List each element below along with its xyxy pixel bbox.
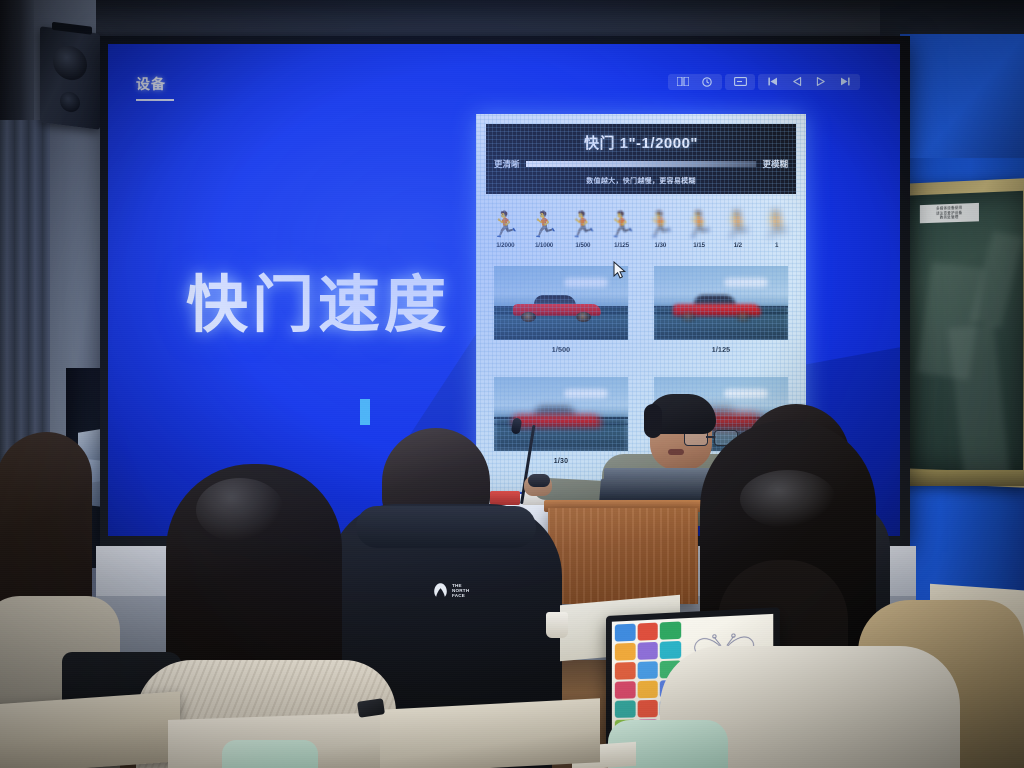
sample-photo-cell: 1/125 bbox=[646, 266, 796, 369]
desktop-app-icon[interactable] bbox=[637, 661, 658, 679]
runner-label: 1/30 bbox=[655, 242, 667, 249]
sample-photo-cell: 1/500 bbox=[486, 266, 636, 369]
card-header-note: 数值越大，快门越慢，更容易模糊 bbox=[486, 176, 796, 186]
chalkboard-sign: 多媒体设备使用 请注意爱护设备 教务处管理 bbox=[920, 203, 979, 223]
running-person-icon: 🏃 bbox=[490, 202, 521, 238]
presenter-hair-side bbox=[644, 404, 662, 438]
jacket-collar bbox=[356, 506, 536, 548]
slide-section-label: 设备 bbox=[136, 74, 174, 101]
desk-front-left bbox=[0, 691, 180, 768]
chalkboard: 多媒体设备使用 请注意爱护设备 教务处管理 bbox=[898, 178, 1024, 488]
timer-button[interactable] bbox=[696, 76, 718, 88]
presentation-control-bar[interactable] bbox=[668, 73, 860, 90]
runner-label: 1/500 bbox=[575, 242, 590, 249]
runner-cell: 🏃 1/2000 bbox=[486, 202, 525, 262]
card-header-title: 快门 1"-1/2000" bbox=[486, 132, 796, 153]
presenter-mouth bbox=[668, 449, 684, 455]
runner-cell: 🏃 1/15 bbox=[680, 202, 719, 262]
last-slide-button[interactable] bbox=[834, 76, 856, 88]
desktop-app-icon[interactable] bbox=[615, 662, 635, 680]
chalkboard-surface bbox=[910, 191, 1023, 473]
scale-right-label: 更模糊 bbox=[762, 158, 788, 170]
running-person-icon: 🏃 bbox=[761, 202, 792, 238]
slide-section-text: 设备 bbox=[136, 74, 174, 94]
running-person-icon: 🏃 bbox=[606, 202, 637, 238]
running-person-icon: 🏃 bbox=[567, 202, 598, 238]
first-slide-button[interactable] bbox=[762, 76, 784, 88]
desktop-app-icon[interactable] bbox=[615, 624, 635, 642]
speaker-woofer bbox=[53, 44, 87, 82]
presenter-view-button[interactable] bbox=[729, 76, 751, 88]
desk-front-right bbox=[380, 698, 600, 768]
loudspeaker-icon bbox=[40, 26, 100, 129]
chalkboard-sign-line-3: 教务处管理 bbox=[940, 215, 959, 220]
sample-photo-caption: 1/125 bbox=[712, 347, 731, 354]
sample-photo-caption: 1/500 bbox=[552, 347, 571, 354]
runner-cell: 🏃 1/2 bbox=[719, 202, 758, 262]
runner-cell: 🏃 1/500 bbox=[564, 202, 603, 262]
wooden-podium bbox=[548, 508, 698, 604]
desktop-app-icon[interactable] bbox=[637, 681, 658, 699]
hair-highlight bbox=[196, 478, 284, 542]
sample-photo-caption: 1/30 bbox=[554, 458, 568, 465]
shutter-speed-runner-row: 🏃 1/2000 🏃 1/1000 🏃 1/500 🏃 1/125 🏃 bbox=[486, 202, 796, 262]
ponytail-highlight bbox=[740, 470, 836, 528]
desktop-app-icon[interactable] bbox=[615, 643, 635, 661]
sample-photo-1-500 bbox=[494, 266, 628, 340]
next-slide-button[interactable] bbox=[810, 76, 832, 88]
right-wall-panel bbox=[900, 34, 1024, 158]
slide-section-underline bbox=[136, 99, 174, 101]
runner-label: 1/2 bbox=[734, 242, 742, 249]
sample-photo-1-30 bbox=[494, 377, 628, 451]
runner-label: 1/125 bbox=[614, 242, 629, 249]
runner-cell: 🏃 1 bbox=[757, 202, 796, 262]
control-group-nav[interactable] bbox=[758, 74, 860, 90]
running-person-icon: 🏃 bbox=[645, 202, 676, 238]
slide-accent-bar bbox=[360, 399, 370, 425]
clarity-scale: 更清晰 更模糊 bbox=[494, 157, 788, 171]
card-header: 快门 1"-1/2000" 更清晰 更模糊 数值越大，快门越慢，更容易模糊 bbox=[486, 124, 796, 194]
runner-label: 1 bbox=[775, 242, 778, 249]
desktop-app-icon[interactable] bbox=[637, 642, 658, 660]
cup bbox=[546, 612, 568, 638]
running-person-icon: 🏃 bbox=[722, 202, 753, 238]
desktop-app-icon[interactable] bbox=[637, 623, 658, 641]
north-face-logo: THE NORTH FACE bbox=[432, 580, 478, 600]
north-face-mark-icon bbox=[432, 582, 449, 598]
desktop-app-icon[interactable] bbox=[615, 700, 635, 718]
slide-switcher-button[interactable] bbox=[672, 76, 694, 88]
desktop-app-icon[interactable] bbox=[637, 700, 658, 718]
running-person-icon: 🏃 bbox=[684, 202, 715, 238]
chalkboard-ledge bbox=[896, 470, 1024, 486]
runner-label: 1/15 bbox=[693, 242, 705, 249]
control-group-view[interactable] bbox=[725, 74, 755, 90]
previous-slide-button[interactable] bbox=[786, 76, 808, 88]
scale-gradient-bar bbox=[526, 161, 757, 167]
scale-left-label: 更清晰 bbox=[494, 158, 520, 170]
sample-photo-1-125 bbox=[654, 266, 788, 340]
slide-title: 快门速度 bbox=[186, 254, 450, 344]
red-box-on-desk bbox=[490, 491, 520, 505]
presenter-mouse bbox=[528, 474, 550, 487]
mint-bag-left bbox=[222, 740, 318, 768]
runner-label: 1/2000 bbox=[496, 242, 514, 249]
classroom-scene: 多媒体设备使用 请注意爱护设备 教务处管理 设备 快门速度 bbox=[0, 0, 1024, 768]
control-group-left[interactable] bbox=[668, 74, 722, 90]
runner-label: 1/1000 bbox=[535, 242, 553, 249]
north-face-brand-text: THE NORTH FACE bbox=[452, 583, 478, 598]
runner-cell: 🏃 1/1000 bbox=[525, 202, 564, 262]
running-person-icon: 🏃 bbox=[529, 202, 560, 238]
speaker-tweeter bbox=[60, 91, 80, 113]
desktop-app-icon[interactable] bbox=[615, 681, 635, 699]
runner-cell: 🏃 1/30 bbox=[641, 202, 680, 262]
runner-cell: 🏃 1/125 bbox=[602, 202, 641, 262]
